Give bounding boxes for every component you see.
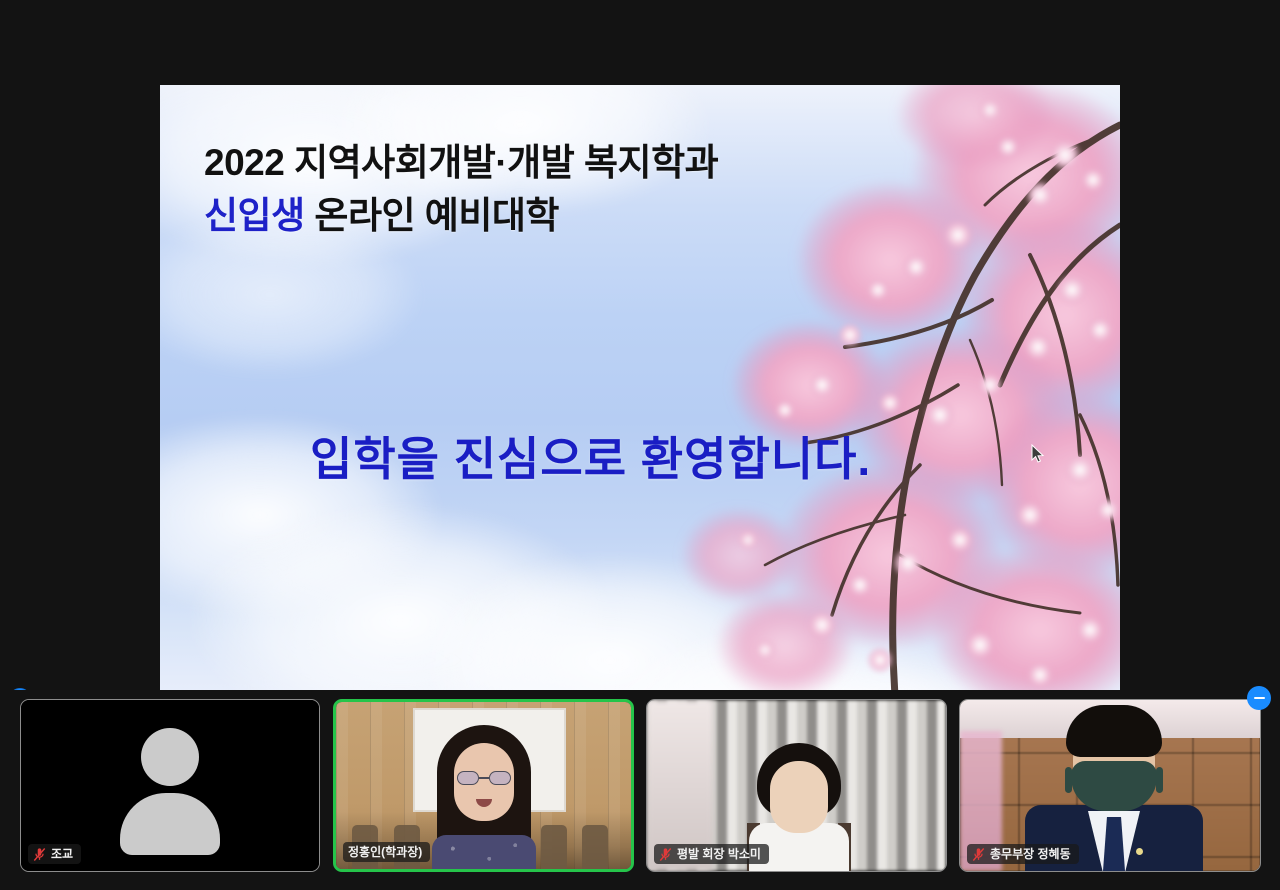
slide-slogan: 입학을 진심으로 환영합니다.	[310, 423, 871, 489]
shared-slide[interactable]: 2022 지역사회개발·개발 복지학과 신입생 온라인 예비대학 입학을 진심으…	[160, 85, 1120, 690]
participant-tile[interactable]: 조교	[20, 699, 320, 872]
zoom-meeting-window: 2022 지역사회개발·개발 복지학과 신입생 온라인 예비대학 입학을 진심으…	[0, 0, 1280, 890]
glasses	[457, 771, 511, 785]
mouth	[476, 799, 492, 807]
torso	[432, 835, 536, 869]
participant-name-label: 조교	[51, 848, 73, 860]
participant-name-label: 평발 회장 박소미	[677, 848, 761, 860]
mouse-pointer-icon	[1031, 444, 1045, 464]
slide-headline-rest: 온라인 예비대학	[305, 195, 559, 236]
mic-muted-icon	[33, 847, 46, 862]
participant-tile[interactable]: 평발 회장 박소미	[646, 699, 947, 872]
shared-screen-stage[interactable]: 2022 지역사회개발·개발 복지학과 신입생 온라인 예비대학 입학을 진심으…	[0, 0, 1280, 690]
person-figure	[429, 719, 539, 869]
participant-name-badge: 정홍인(학과장)	[343, 842, 430, 862]
participant-name-label: 총무부장 정혜동	[990, 848, 1071, 860]
face-mask	[1071, 761, 1157, 811]
participant-tile-active-speaker[interactable]: 정홍인(학과장)	[333, 699, 634, 872]
hair	[1066, 705, 1162, 757]
slide-headline-line2: 신입생 온라인 예비대학	[204, 190, 718, 243]
mic-muted-icon	[659, 847, 672, 862]
slide-headline: 2022 지역사회개발·개발 복지학과 신입생 온라인 예비대학	[204, 137, 718, 242]
slide-headline-line1: 2022 지역사회개발·개발 복지학과	[204, 137, 718, 190]
participant-name-badge: 총무부장 정혜동	[967, 844, 1079, 864]
mic-muted-icon	[972, 847, 985, 862]
face	[770, 761, 828, 833]
participant-name-badge: 평발 회장 박소미	[654, 844, 769, 864]
slide-headline-accent: 신입생	[204, 195, 305, 236]
lapel-pin	[1136, 848, 1143, 855]
participant-filmstrip: 조교	[0, 690, 1280, 890]
participant-name-label: 정홍인(학과장)	[348, 846, 422, 858]
minus-icon	[1254, 697, 1265, 699]
slide-text-layer: 2022 지역사회개발·개발 복지학과 신입생 온라인 예비대학 입학을 진심으…	[160, 85, 1120, 690]
participant-name-badge: 조교	[28, 844, 81, 864]
participant-tile[interactable]: 총무부장 정혜동	[959, 699, 1261, 872]
collapse-filmstrip-button[interactable]	[1247, 686, 1271, 710]
person-avatar-icon	[141, 728, 199, 786]
